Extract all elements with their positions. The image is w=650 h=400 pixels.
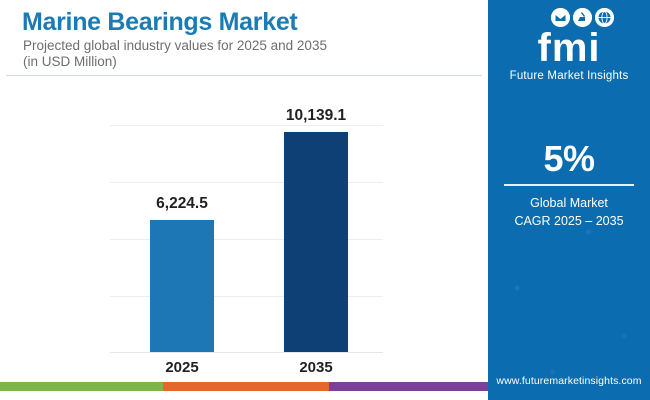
gridline <box>110 125 383 126</box>
bottom-color-strip <box>0 382 488 391</box>
fmi-logo[interactable]: fmi Future Market Insights <box>488 6 650 82</box>
logo-icon-row <box>521 6 617 30</box>
page-subtitle: Projected global industry values for 202… <box>23 38 327 70</box>
bar-value-label: 10,139.1 <box>251 107 381 125</box>
website-url[interactable]: www.futuremarketinsights.com <box>488 375 650 387</box>
brand-side-panel: fmi Future Market Insights 5% Global Mar… <box>488 0 650 400</box>
category-label-2025: 2025 <box>117 359 247 376</box>
strip-segment-purple <box>329 382 488 391</box>
envelope-icon <box>551 8 570 27</box>
header-divider <box>6 75 482 76</box>
cagr-caption: Global Market CAGR 2025 – 2035 <box>488 194 650 230</box>
strip-segment-green <box>0 382 163 391</box>
cagr-value: 5% <box>488 138 650 180</box>
fmi-logo-wordmark: fmi <box>488 28 650 68</box>
infographic-root: Marine Bearings Market Projected global … <box>0 0 650 400</box>
fmi-logo-tagline: Future Market Insights <box>488 70 650 82</box>
bar-2025[interactable] <box>150 220 214 352</box>
bar-value-label: 6,224.5 <box>117 195 247 213</box>
page-title: Marine Bearings Market <box>22 8 297 37</box>
cagr-divider <box>504 184 634 186</box>
globe-icon <box>595 8 614 27</box>
strip-segment-orange <box>163 382 329 391</box>
category-label-2035: 2035 <box>251 359 381 376</box>
bar-2035[interactable] <box>284 132 348 352</box>
bar-chart: 6,224.5 10,139.1 2025 2035 <box>110 125 383 353</box>
main-panel: Marine Bearings Market Projected global … <box>0 0 488 391</box>
axis-baseline <box>110 352 383 353</box>
microscope-icon <box>573 8 592 27</box>
